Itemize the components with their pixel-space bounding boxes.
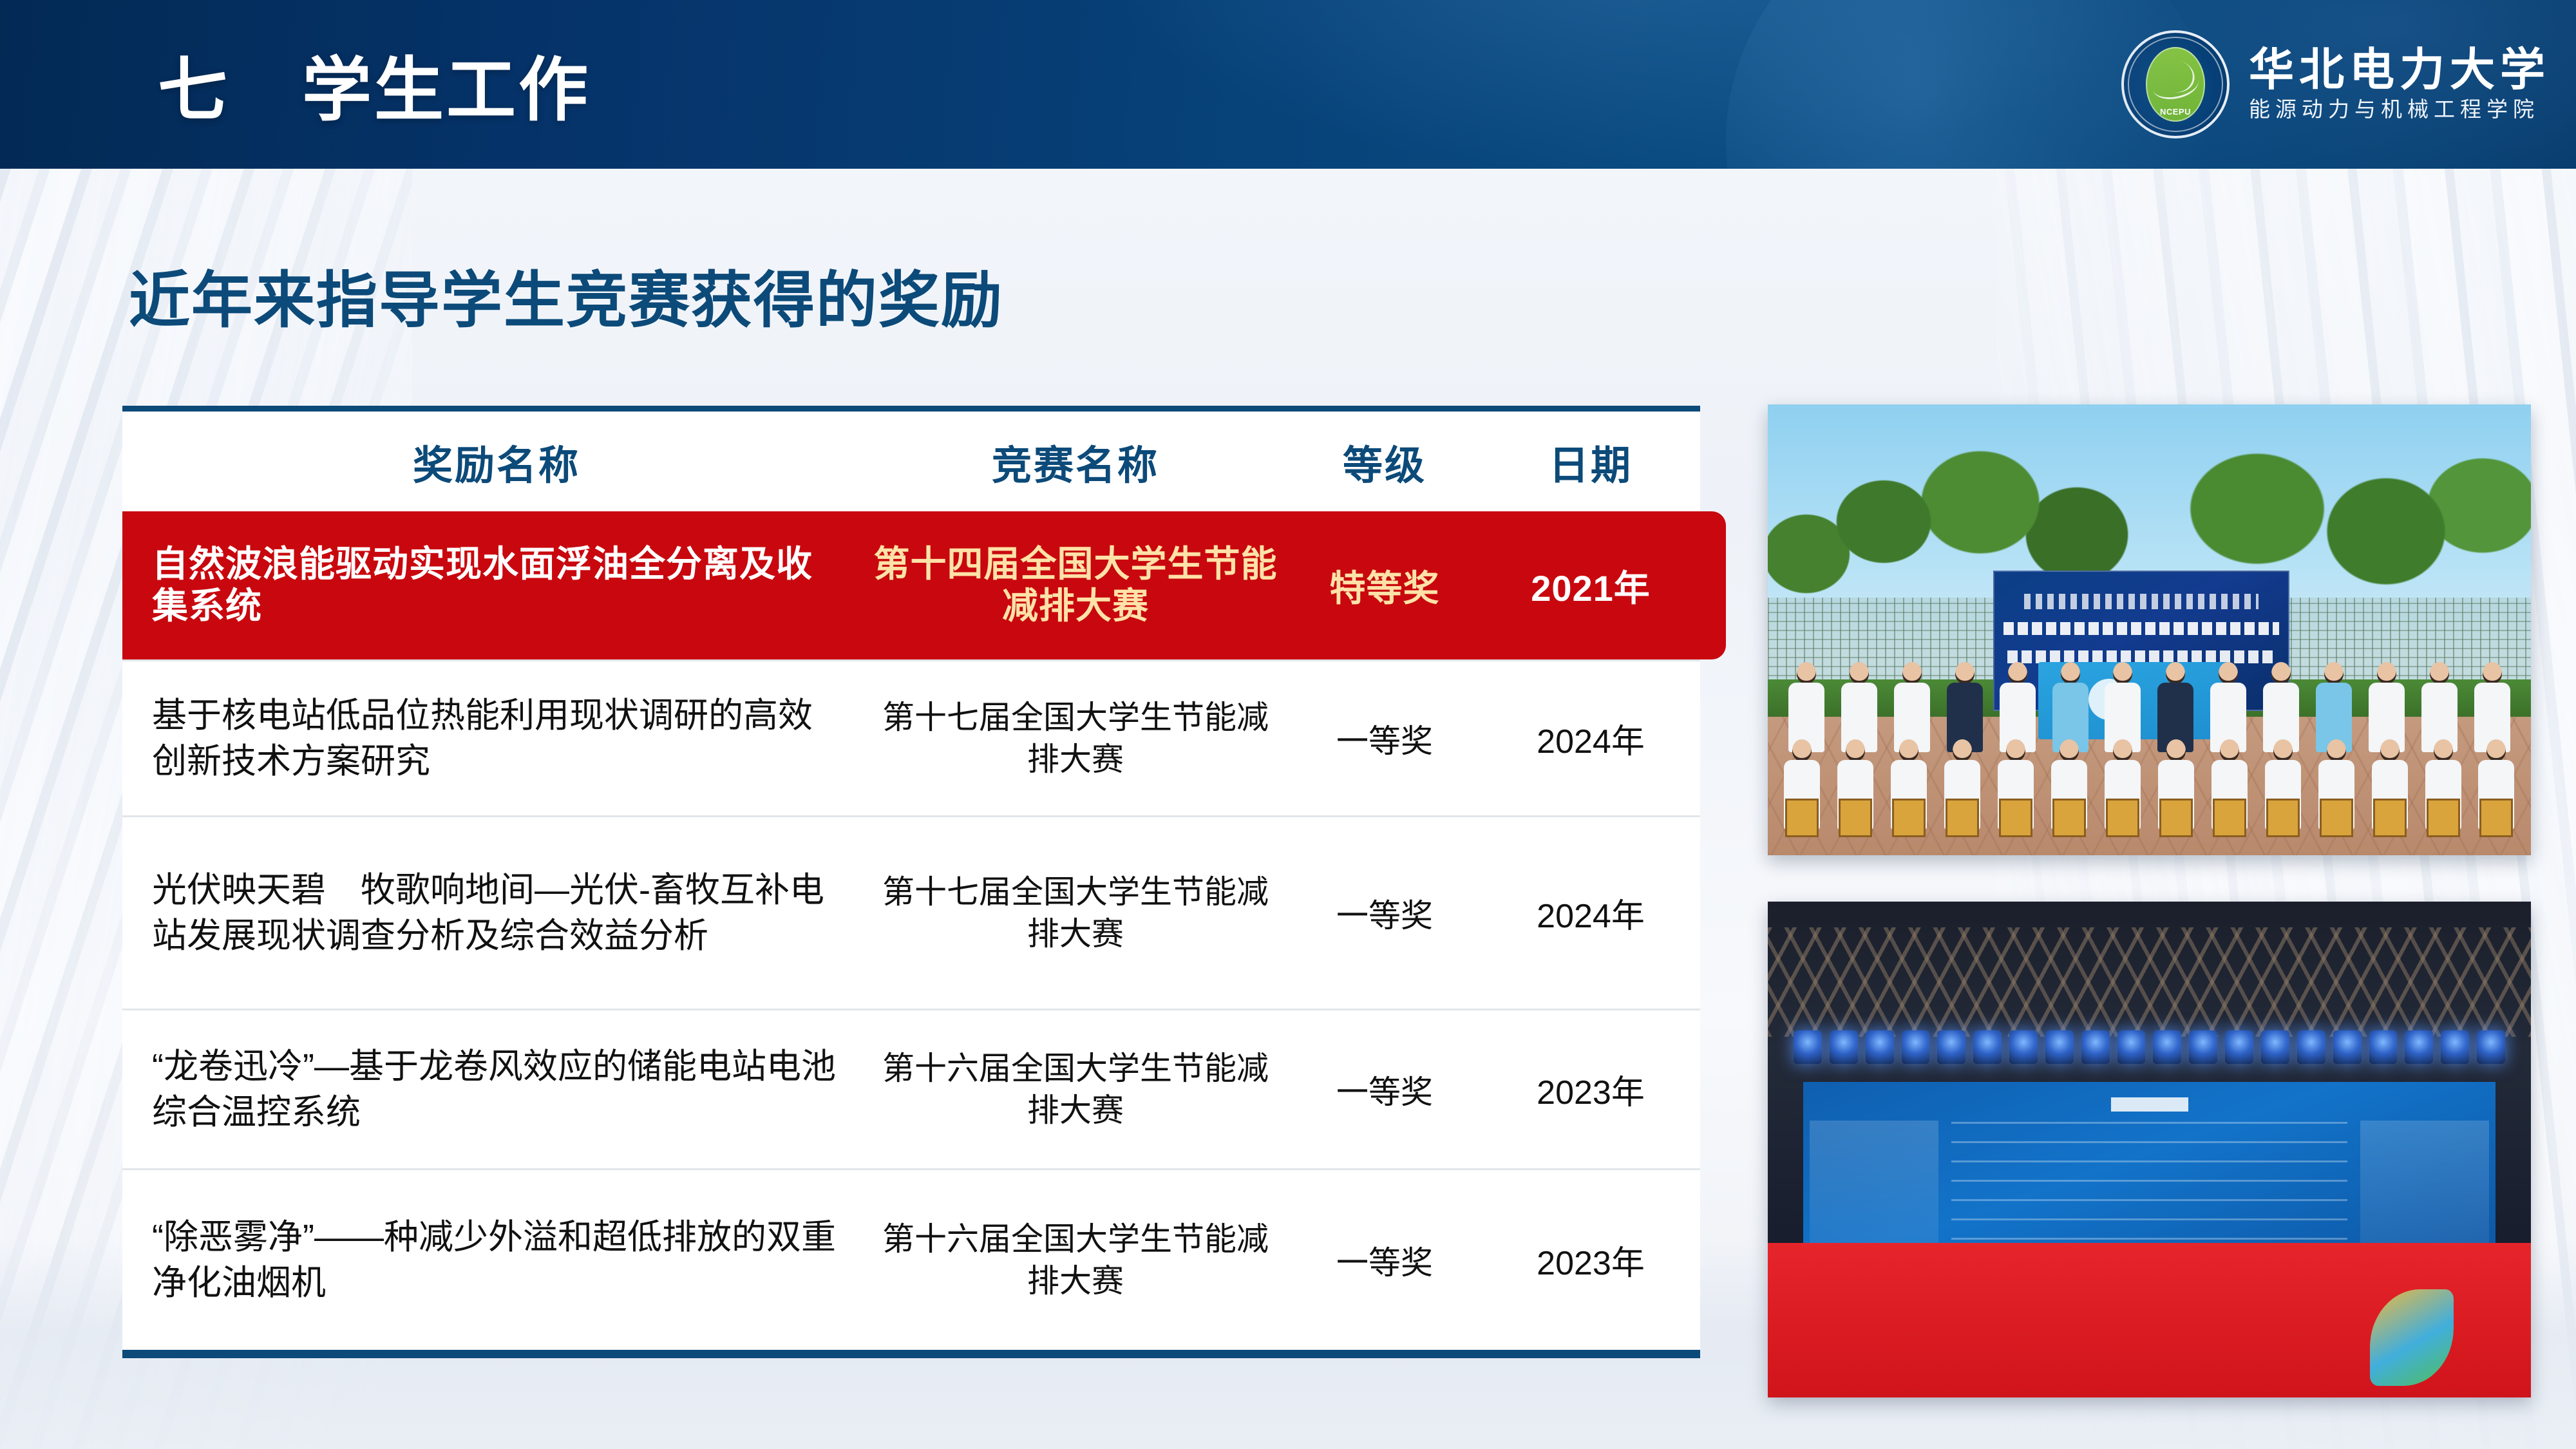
person-with-certificate — [1833, 739, 1879, 855]
cell-date: 2023年 — [1481, 1236, 1700, 1284]
cell-competition-name: 第十七届全国大学生节能减排大赛 — [863, 871, 1288, 955]
seal-swoosh-secondary-icon — [2152, 55, 2198, 97]
person-with-certificate — [2420, 739, 2466, 855]
school-name: 能源动力与机械工程学院 — [2249, 100, 2550, 121]
cell-award-name: 自然波浪能驱动实现水面浮油全分离及收集系统 — [122, 544, 863, 627]
table-body: 奖励名称 竞赛名称 等级 日期 自然波浪能驱动实现水面浮油全分离及收集系统 第十… — [122, 412, 1700, 1350]
person-with-certificate — [2206, 739, 2252, 855]
screen-award-title — [2111, 1097, 2188, 1112]
cell-award-name: 光伏映天碧 牧歌响地间—光伏-畜牧互补电站发展现状调查分析及综合效益分析 — [122, 867, 863, 958]
cell-level: 特等奖 — [1288, 560, 1481, 612]
cell-level: 一等奖 — [1288, 890, 1481, 936]
cell-date: 2024年 — [1481, 889, 1700, 937]
cell-competition-name: 第十六届全国大学生节能减排大赛 — [863, 1048, 1288, 1132]
table-header-row: 奖励名称 竞赛名称 等级 日期 — [122, 412, 1700, 511]
seal-acronym: NCEPU — [2160, 107, 2191, 117]
person-with-certificate — [2153, 739, 2199, 855]
banner-text-line-1 — [2003, 622, 2279, 635]
person-with-certificate — [1779, 739, 1825, 855]
award-ceremony-photo[interactable] — [1768, 902, 2531, 1397]
cell-award-name: 基于核电站低品位热能利用现状调研的高效创新技术方案研究 — [122, 693, 863, 783]
person-with-certificate — [2260, 739, 2306, 855]
table-row[interactable]: 基于核电站低品位热能利用现状调研的高效创新技术方案研究 第十七届全国大学生节能减… — [122, 659, 1700, 815]
table-row-highlighted[interactable]: 自然波浪能驱动实现水面浮油全分离及收集系统 第十四届全国大学生节能减排大赛 特等… — [122, 511, 1726, 659]
cell-award-name: “龙卷迅冷”—基于龙卷风效应的储能电站电池综合温控系统 — [122, 1044, 863, 1134]
cell-competition-name: 第十七届全国大学生节能减排大赛 — [863, 697, 1288, 781]
university-logo-lockup: NCEPU 华北电力大学 能源动力与机械工程学院 — [2121, 30, 2550, 138]
flame-emblem-icon — [2370, 1289, 2454, 1386]
table-top-rule — [122, 406, 1700, 412]
ncepu-seal-icon: NCEPU — [2121, 30, 2230, 138]
person-with-certificate — [2313, 739, 2359, 855]
seal-swoosh-icon — [2150, 67, 2201, 103]
person-with-certificate — [2100, 739, 2146, 855]
screen-winner-table — [1951, 1122, 2347, 1262]
table-row[interactable]: “除恶雾净”——种减少外溢和超低排放的双重净化油烟机 第十六届全国大学生节能减排… — [122, 1168, 1700, 1350]
logo-text-block: 华北电力大学 能源动力与机械工程学院 — [2249, 48, 2550, 121]
person-with-certificate — [1886, 739, 1932, 855]
person-with-certificate — [2474, 739, 2519, 855]
awards-table: 奖励名称 竞赛名称 等级 日期 自然波浪能驱动实现水面浮油全分离及收集系统 第十… — [122, 406, 1700, 1358]
table-bottom-rule — [122, 1350, 1700, 1358]
seal-ring — [2128, 37, 2223, 132]
cell-level: 一等奖 — [1288, 1066, 1481, 1113]
cell-competition-name: 第十六届全国大学生节能减排大赛 — [863, 1218, 1288, 1302]
person-with-certificate — [2367, 739, 2412, 855]
university-name: 华北电力大学 — [2249, 48, 2550, 93]
column-header-competition-name: 竞赛名称 — [863, 433, 1288, 491]
person-with-certificate — [1940, 739, 1985, 855]
header-banner: 七 学生工作 NCEPU 华北电力大学 能源动力与机械工程学院 — [0, 0, 2576, 169]
person-with-certificate — [1993, 739, 2039, 855]
banner-logos — [2024, 594, 2259, 609]
stage-lights — [1794, 1030, 2505, 1075]
banner-text-line-2 — [2007, 650, 2275, 663]
section-title: 七 学生工作 — [158, 34, 591, 135]
cell-competition-name: 第十四届全国大学生节能减排大赛 — [863, 544, 1288, 627]
cell-level: 一等奖 — [1288, 715, 1481, 762]
table-row[interactable]: “龙卷迅冷”—基于龙卷风效应的储能电站电池综合温控系统 第十六届全国大学生节能减… — [122, 1009, 1700, 1168]
cell-date: 2023年 — [1481, 1065, 1700, 1113]
cell-award-name: “除恶雾净”——种减少外溢和超低排放的双重净化油烟机 — [122, 1215, 863, 1305]
column-header-award-name: 奖励名称 — [122, 433, 863, 491]
column-header-level: 等级 — [1288, 433, 1481, 491]
person-with-certificate — [2047, 739, 2092, 855]
table-row[interactable]: 光伏映天碧 牧歌响地间—光伏-畜牧互补电站发展现状调查分析及综合效益分析 第十七… — [122, 815, 1700, 1009]
photo-front-row-people — [1779, 739, 2519, 855]
page-title: 近年来指导学生竞赛获得的奖励 — [129, 251, 1003, 339]
cell-date: 2021年 — [1481, 560, 1700, 612]
group-photo[interactable] — [1768, 404, 2531, 855]
red-carpet — [1768, 1243, 2531, 1397]
column-header-date: 日期 — [1481, 433, 1700, 491]
cell-date: 2024年 — [1481, 714, 1700, 762]
seal-inner-oval: NCEPU — [2146, 47, 2205, 122]
ceiling-truss — [1768, 927, 2531, 1037]
cell-level: 一等奖 — [1288, 1237, 1481, 1283]
